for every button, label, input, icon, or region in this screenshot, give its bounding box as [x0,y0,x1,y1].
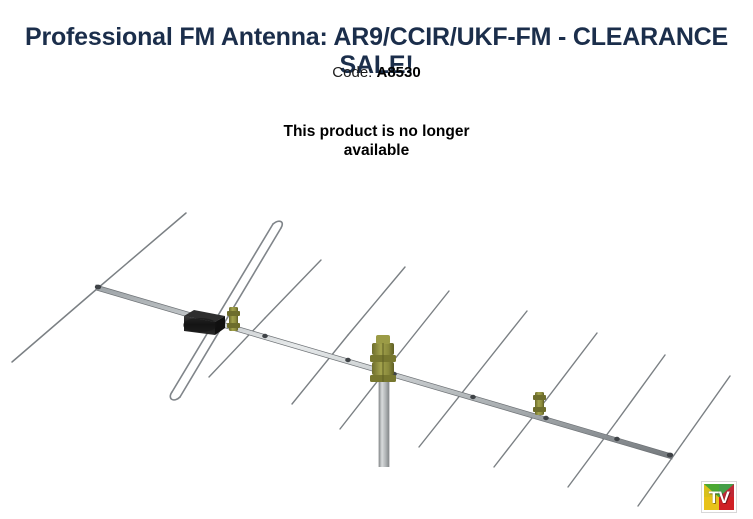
product-image [0,175,753,519]
product-page: Professional FM Antenna: AR9/CCIR/UKF-FM… [0,0,753,519]
antenna-illustration [0,175,753,519]
tv-logo-frame: TV [702,482,736,512]
product-code-value: A8530 [377,64,421,81]
product-code-label: Code: [332,64,372,81]
tv-logo-text: TV [704,484,734,510]
availability-notice: This product is no longer available [0,122,753,160]
availability-line-2: available [0,141,753,160]
availability-line-1: This product is no longer [0,122,753,141]
product-code: Code: A8530 [0,64,753,82]
tv-logo: TV [702,482,736,512]
